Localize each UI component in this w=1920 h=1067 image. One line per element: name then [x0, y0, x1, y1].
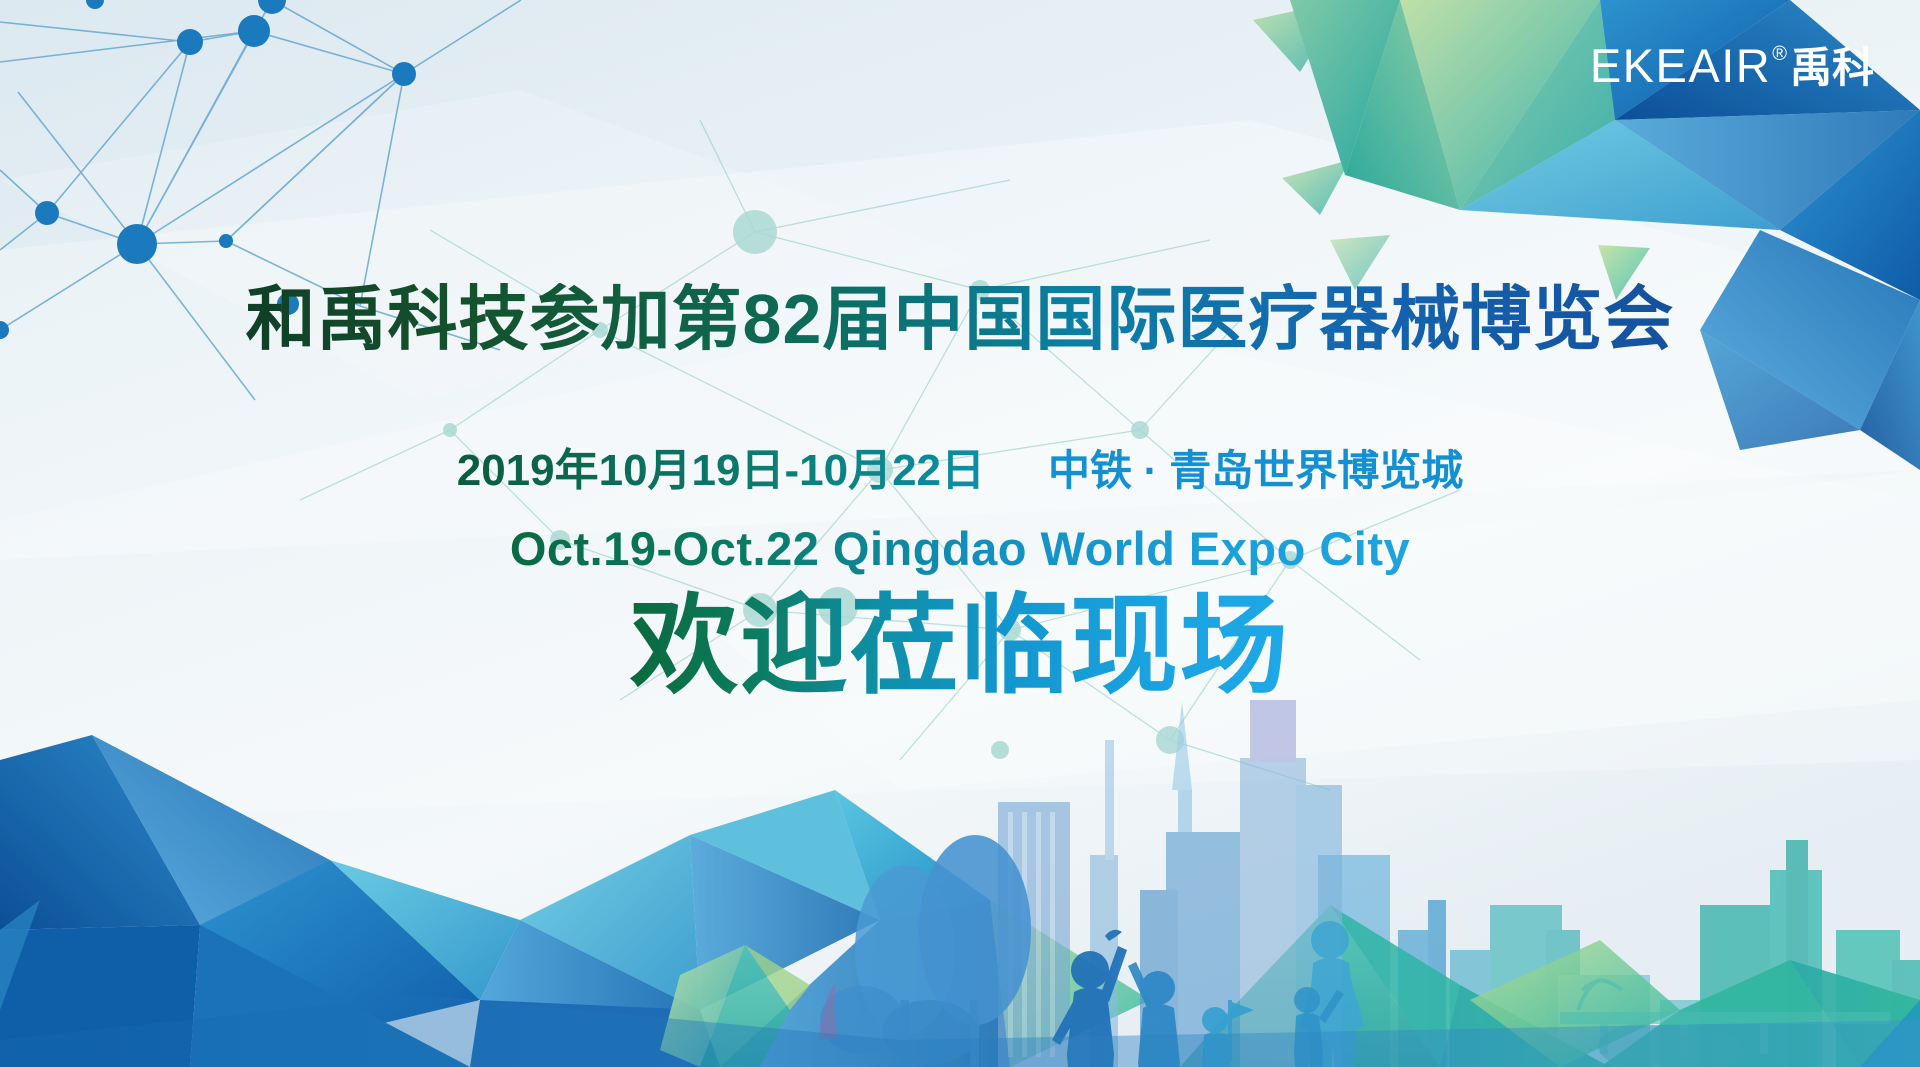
brand-logo[interactable]: EKEAIR ® 禹科: [1590, 42, 1874, 89]
logo-chinese-name: 禹科: [1790, 47, 1874, 89]
promotional-banner: EKEAIR ® 禹科 和禹科技参加第82届中国国际医疗器械博览会 2019年1…: [0, 0, 1920, 1067]
logo-wordmark: EKEAIR: [1590, 42, 1771, 89]
registered-trademark-icon: ®: [1772, 44, 1787, 64]
background-artwork: [0, 0, 1920, 1067]
